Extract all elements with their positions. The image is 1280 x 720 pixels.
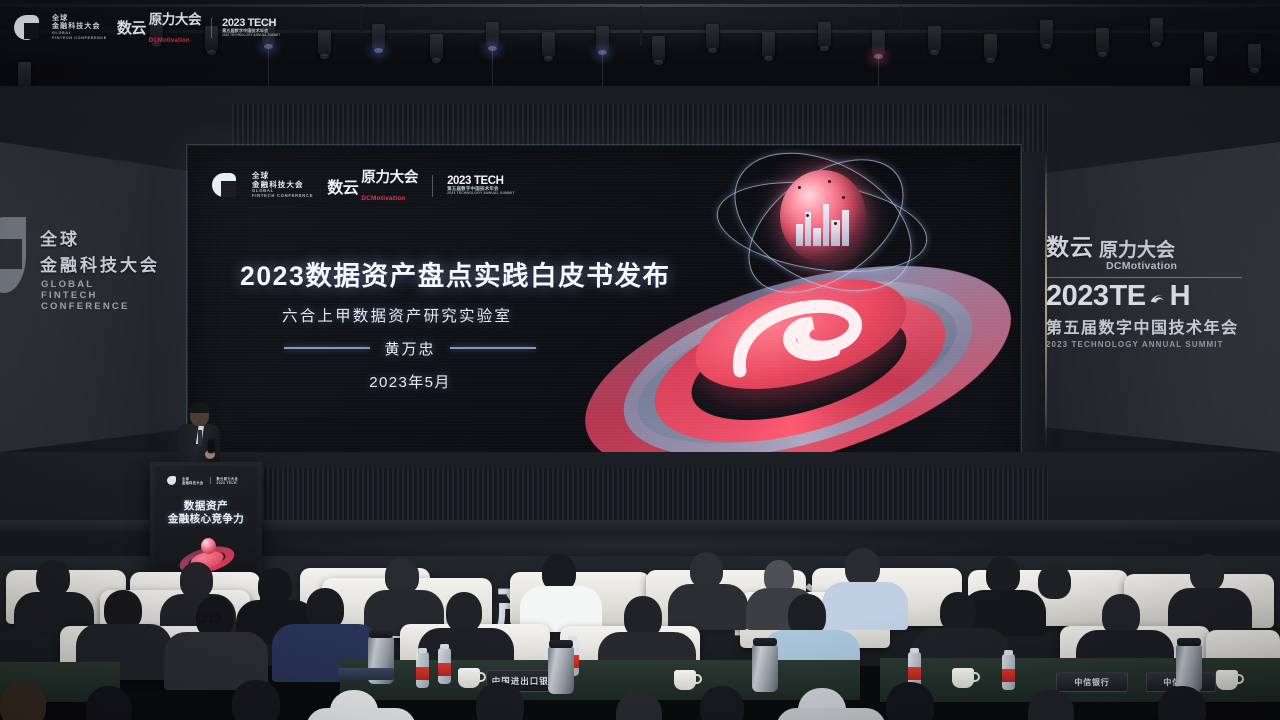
podium-logo-cn3: 数云原力大会 [217,477,239,481]
stage-front-ribbing [232,468,1048,520]
led-presenter-name: 黄万忠 [384,338,435,359]
glasses-icon [196,614,222,622]
audience-head [476,682,524,720]
fintech-conference-mark-icon [0,217,28,295]
audience-head [845,548,880,586]
led-logo1-en2: FINTECH CONFERENCE [252,194,313,199]
wall-right-yuanli: 原力大会 [1099,235,1175,262]
audience-head [258,568,292,604]
audience-head [232,680,280,720]
audience-torso [668,584,748,630]
audience-head [86,686,132,720]
audience-head [0,682,46,720]
broadcast-logo-overlay: 全球 金融科技大会 GLOBAL FINTECH CONFERENCE 数云 原… [14,8,280,47]
rule-right [450,347,536,349]
rule-left [284,347,370,349]
led-logo-bar: 全球 金融科技大会 GLOBAL FINTECH CONFERENCE 数云 原… [212,166,515,205]
red-spiral-orbit-sphere-graphic [588,164,1008,464]
podium-logo-cn2: 金融科技大会 [182,481,204,485]
thermos[interactable] [752,644,778,692]
audience-head [385,558,419,594]
wall-signage-left: 全球 金融科技大会 GLOBAL FINTECH CONFERENCE [0,225,175,312]
divider [1046,277,1242,278]
led-badge-en: 2023 TECHNOLOGY ANNUAL SUMMIT [447,192,515,196]
podium-logo-bar: 全球 金融科技大会 数云原力大会 2023 TECH [167,476,238,485]
water-bottle[interactable] [416,652,429,688]
bug-logo1-cn2: 金融科技大会 [52,23,107,31]
audience-head [700,686,744,720]
coffee-mug[interactable] [1216,670,1238,690]
wall-left-cn-line2: 金融科技大会 [40,251,175,276]
globe-sphere-icon [780,170,866,262]
audience-head [446,592,482,632]
led-logo2-shuyun: 数云 [327,174,358,198]
bug-logo1-en2: FINTECH CONFERENCE [52,36,107,40]
notebook[interactable] [338,668,394,680]
conference-stage-photo: 全球 金融科技大会 GLOBAL FINTECH CONFERENCE 数云 原… [0,0,1280,720]
divider [211,18,212,38]
led-presenter-row: 黄万忠 [240,337,580,359]
audience-head [940,592,976,632]
speaker-at-podium [176,404,222,470]
audience-head [36,560,70,596]
wall-left-en-line1: GLOBAL [41,279,175,290]
audience-head [690,552,723,588]
bug-logo2-yuanli: 原力大会 [149,12,201,27]
wall-right-cn-summit: 第五届数字中国技术年会 [1046,314,1268,338]
divider [210,477,211,484]
coffee-mug[interactable] [458,668,480,688]
wall-signage-right: 数云 原力大会 DCMotivation 2023 TE H 第五届数字中国技术… [1046,228,1268,349]
audience-head [1190,554,1224,591]
coffee-mug[interactable] [952,668,974,688]
audience-area: 中国进出口银行 中信银行 中信银行 [0,540,1280,720]
audience-head [886,682,934,720]
wall-left-cn-line1: 全球 [40,225,175,250]
microphone-icon [208,440,214,453]
coffee-mug[interactable] [674,670,696,690]
bug-badge-en: 2023 TECHNOLOGY ANNUAL SUMMIT [222,34,280,38]
audience-torso [306,708,416,720]
podium-logo-cn4: 2023 TECH [217,481,239,485]
audience-head [180,562,213,598]
led-screen: 全球 金融科技大会 GLOBAL FINTECH CONFERENCE 数云 原… [188,146,1020,478]
fintech-conference-mark-icon [212,173,238,199]
led-slide-date: 2023年5月 [240,371,580,392]
podium-line2: 金融核心竞争力 [155,511,257,526]
led-slide-subtitle: 六合上甲数据资产研究实验室 [282,304,512,326]
audience-torso [776,708,886,720]
audience-torso [822,582,908,630]
wall-right-en: DCMotivation [1106,260,1268,272]
audience-head [1158,686,1206,720]
fintech-conference-mark-icon [167,476,176,485]
audience-head [1038,564,1071,599]
led-logo2-en: DCMotivation [361,195,405,202]
thermos[interactable] [1176,644,1202,692]
water-bottle[interactable] [438,648,451,684]
wall-right-tech-left: TE [1110,282,1146,311]
wall-right-en-summit: 2023 TECHNOLOGY ANNUAL SUMMIT [1046,340,1268,349]
wall-left-en-line2: FINTECH CONFERENCE [41,290,175,312]
wall-right-tech-right: H [1170,282,1190,311]
swirl-glyph-icon [1147,286,1169,308]
bug-logo1-cn1: 全球 [52,15,107,23]
led-logo2-yuanli: 原力大会 [361,170,418,186]
table-nameplate: 中信银行 [1056,672,1128,692]
bug-logo2-en: DCMotivation [149,38,190,44]
water-bottle[interactable] [1002,654,1015,690]
audience-head [986,556,1020,593]
wall-right-year: 2023 [1046,282,1109,311]
fintech-conference-mark-icon [14,14,42,42]
bug-logo2-shuyun: 数云 [117,17,146,38]
thermos[interactable] [548,646,574,694]
divider [432,175,433,197]
wall-right-shuyun: 数云 [1046,228,1094,262]
